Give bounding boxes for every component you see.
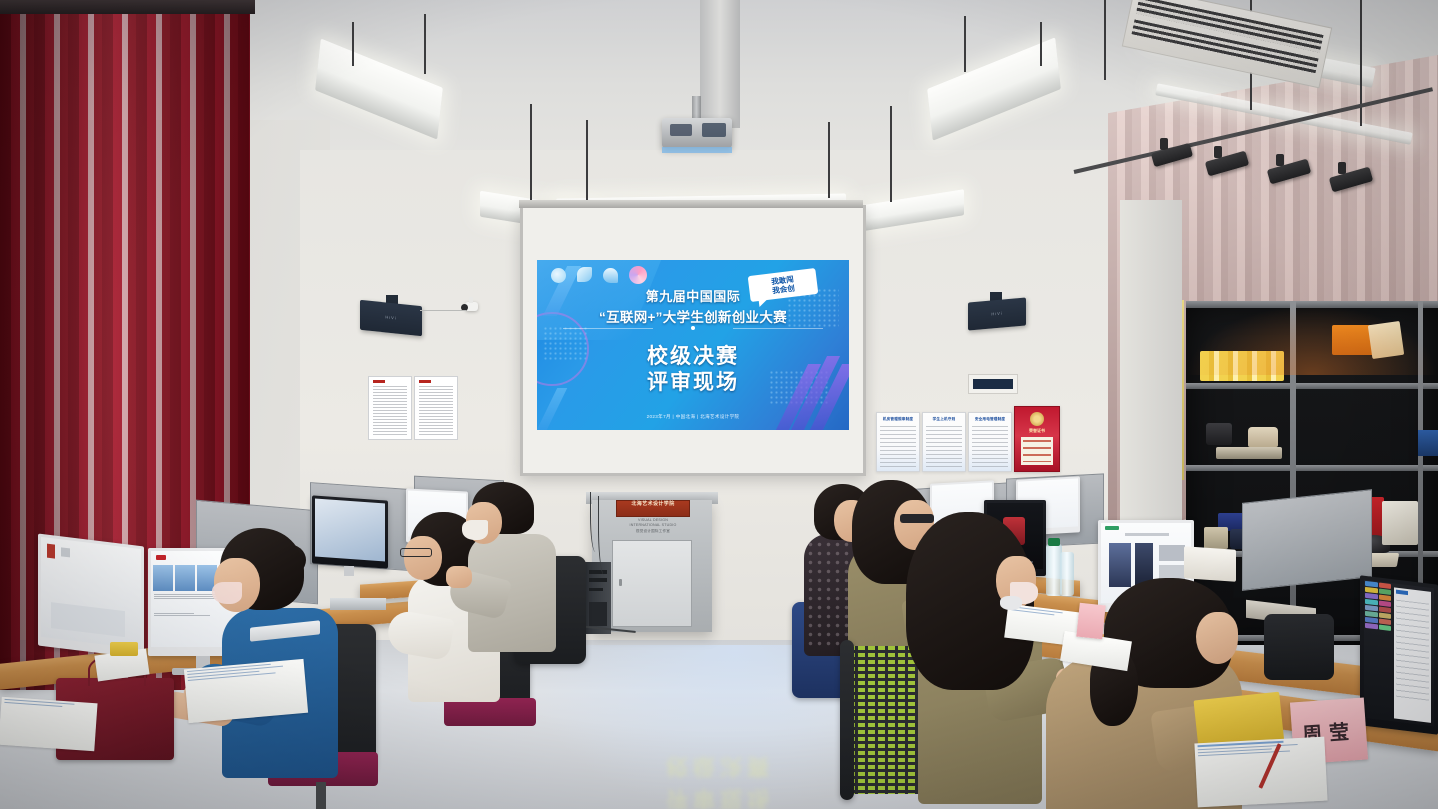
shelf-item-dark-pot bbox=[1206, 423, 1232, 445]
slide-header-line: 第九届中国国际 bbox=[537, 286, 849, 305]
chair-frame-mesh bbox=[840, 640, 854, 800]
desk-clutter-left bbox=[330, 598, 386, 610]
podium-name-cn: 视觉设计国际工作室 bbox=[618, 529, 688, 534]
right-papers-3 bbox=[1194, 737, 1327, 808]
light-hanger-8 bbox=[1040, 22, 1042, 66]
contest-logo-icon-4 bbox=[629, 266, 647, 284]
left-speaker-brand: HiVi bbox=[360, 312, 422, 324]
light-hanger-6 bbox=[890, 106, 892, 202]
face-mask bbox=[212, 582, 242, 604]
security-camera bbox=[465, 302, 478, 311]
monitor-right-3[interactable] bbox=[1360, 575, 1438, 735]
spot-mount-3 bbox=[1338, 162, 1346, 174]
wall-poster-2: 学生上机守则 bbox=[922, 412, 966, 472]
monitor-left-2[interactable] bbox=[38, 533, 144, 658]
shelf-item-beige-bowl bbox=[1248, 427, 1278, 447]
shelf-item-basket bbox=[1204, 527, 1228, 549]
left-wall-notices bbox=[368, 376, 458, 438]
chair-post-left-1 bbox=[316, 782, 326, 809]
chair-foreground-right bbox=[1264, 614, 1334, 680]
shelf-right-blue-box bbox=[1418, 430, 1438, 456]
honor-certificate-poster: 荣誉证书 bbox=[1014, 406, 1060, 472]
mouse-right[interactable] bbox=[1000, 596, 1022, 610]
presentation-slide: 我敢闯 我会创 第九届中国国际 “互联网+”大学生创新创业大赛 校级决赛 评审现… bbox=[537, 260, 849, 430]
left-papers-2 bbox=[0, 697, 98, 752]
face-mask-3 bbox=[462, 520, 488, 540]
desk-item-yellow-left bbox=[110, 642, 138, 656]
eyeglasses bbox=[400, 548, 432, 557]
face-2 bbox=[404, 536, 442, 580]
left-papers-1 bbox=[184, 659, 308, 723]
floor-reflection-line-1: 校级决赛 bbox=[600, 752, 840, 784]
slide-subtitle-2: 评审现场 bbox=[537, 366, 849, 396]
podium-name-en-1: VISUAL DESIGN bbox=[618, 518, 688, 523]
wall-poster-3: 安全用电管理制度 bbox=[968, 412, 1012, 472]
hand-3 bbox=[446, 566, 472, 588]
notice-sheet-1 bbox=[368, 376, 412, 440]
podium-plaque-text: 北海艺术设计学院 bbox=[617, 501, 689, 508]
light-hanger-7 bbox=[964, 16, 966, 72]
camera-cable bbox=[420, 310, 466, 311]
person-judge-gray-shirt bbox=[452, 482, 578, 682]
contest-logo-icon-1 bbox=[551, 268, 566, 283]
wall-poster-1: 机房管理规章制度 bbox=[876, 412, 920, 472]
floor-reflection-line-2: 评审现场 bbox=[600, 784, 840, 809]
classroom-photo-scene: 我敢闯 我会创 第九届中国国际 “互联网+”大学生创新创业大赛 校级决赛 评审现… bbox=[0, 0, 1438, 809]
bottle-cap-1 bbox=[1048, 538, 1060, 546]
podium-plaque: 北海艺术设计学院 bbox=[616, 500, 690, 517]
wall-poster-2-title: 学生上机守则 bbox=[923, 417, 965, 422]
light-hanger-3 bbox=[530, 104, 532, 204]
screen-top-bar bbox=[519, 200, 863, 208]
wall-poster-3-title: 安全用电管理制度 bbox=[969, 417, 1011, 422]
right-speaker-brand: HiVi bbox=[968, 308, 1026, 318]
left-speaker: HiVi bbox=[360, 300, 422, 337]
light-hanger-4 bbox=[586, 120, 588, 200]
podium-cable-2 bbox=[598, 496, 609, 576]
water-bottle-2 bbox=[1060, 552, 1074, 596]
light-hanger-5 bbox=[828, 122, 830, 198]
face-d bbox=[1196, 612, 1238, 664]
shelf-item-books bbox=[1216, 447, 1282, 459]
podium-cabinet-door[interactable] bbox=[612, 540, 692, 627]
light-hanger-9 bbox=[1104, 0, 1106, 80]
wall-display-box bbox=[968, 374, 1018, 394]
light-hanger-1 bbox=[352, 22, 354, 66]
slide-footer: 2023年7月 | 中国北海 | 北海艺术设计学院 bbox=[537, 414, 849, 420]
spot-mount-1 bbox=[1214, 146, 1222, 158]
ceiling-beam bbox=[700, 0, 740, 128]
chair-seat-left-2 bbox=[444, 698, 536, 726]
spot-mount-2 bbox=[1276, 154, 1284, 166]
certificate-title: 荣誉证书 bbox=[1015, 428, 1059, 434]
name-card-left bbox=[1076, 603, 1105, 640]
podium-name-en-2: INTERNATIONAL STUDIO bbox=[618, 523, 688, 528]
red-curtain-rail bbox=[0, 0, 255, 14]
wall-poster-1-title: 机房管理规章制度 bbox=[877, 417, 919, 422]
slide-main-line: “互联网+”大学生创新创业大赛 bbox=[537, 306, 849, 326]
certificate-seal-icon bbox=[1030, 412, 1044, 426]
tissue-box bbox=[1184, 546, 1236, 582]
shelf-warm-glow bbox=[1186, 305, 1438, 375]
contest-logo-icon-2 bbox=[577, 267, 592, 282]
shelf-item-white-card bbox=[1382, 501, 1418, 545]
notice-sheet-2 bbox=[414, 376, 458, 440]
right-speaker: HiVi bbox=[968, 297, 1026, 330]
ceiling-projector bbox=[662, 118, 732, 148]
light-hanger-2 bbox=[424, 14, 426, 74]
right-partition-3 bbox=[1242, 489, 1372, 591]
contest-logo-icon-3 bbox=[603, 268, 618, 283]
projection-screen: 我敢闯 我会创 第九届中国国际 “互联网+”大学生创新创业大赛 校级决赛 评审现… bbox=[520, 205, 866, 476]
